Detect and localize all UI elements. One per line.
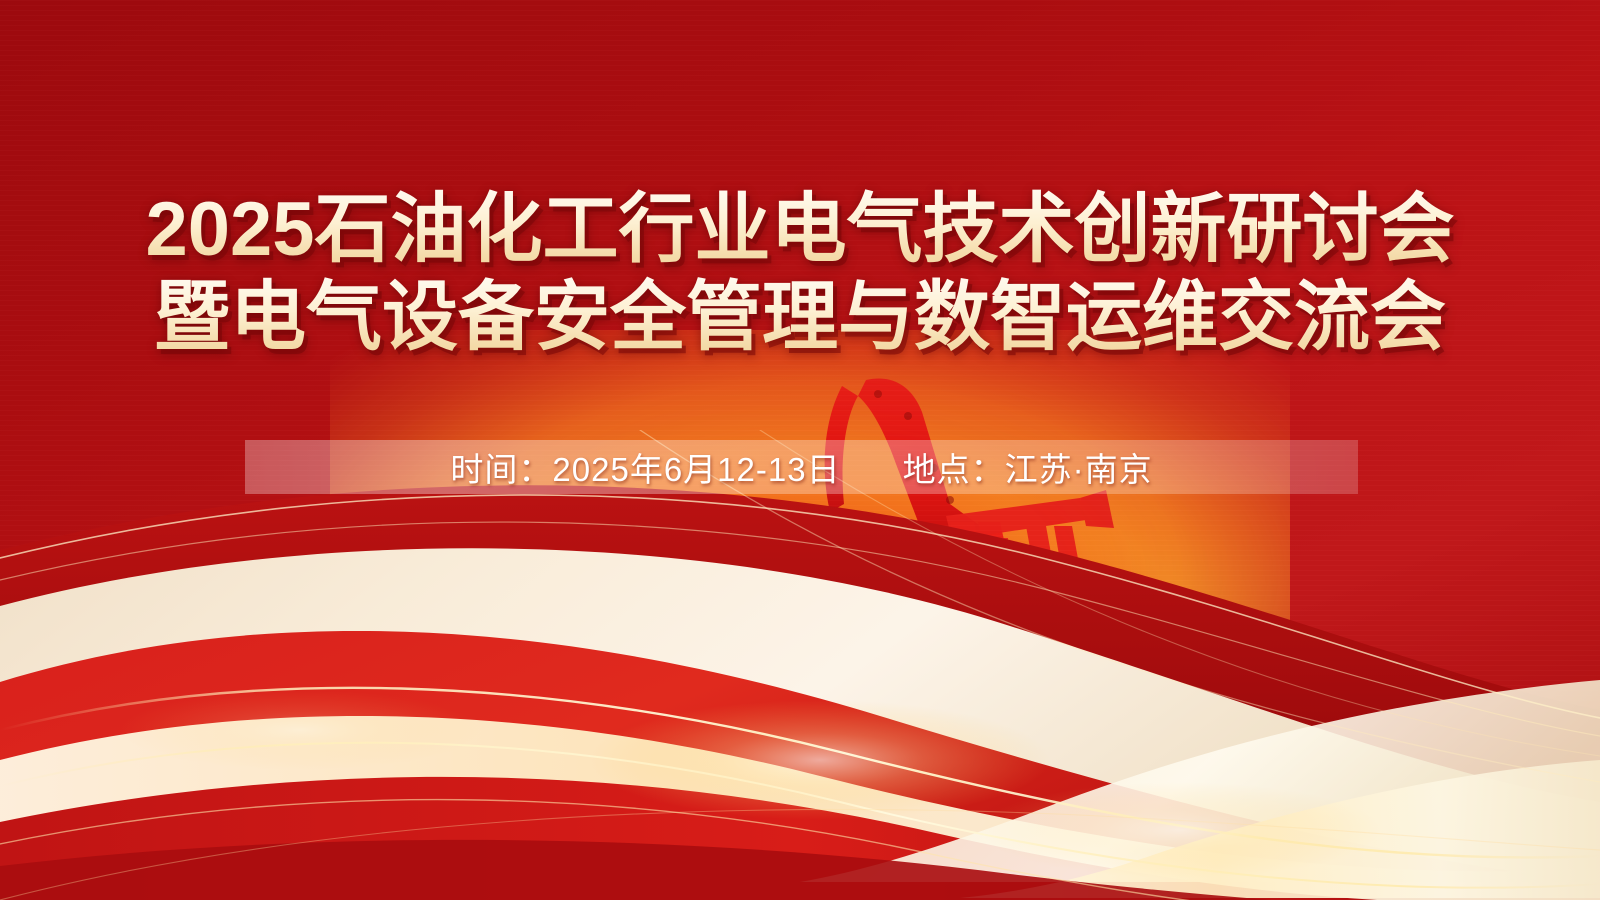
- event-location: 地点：江苏·南京: [903, 443, 1153, 491]
- conference-poster: 2025石油化工行业电气技术创新研讨会 暨电气设备安全管理与数智运维交流会 时间…: [0, 0, 1600, 900]
- page-title-line-1: 2025石油化工行业电气技术创新研讨会: [0, 188, 1600, 272]
- flowing-ribbon-icon: [0, 430, 1600, 900]
- event-info-text: 时间：2025年6月12-13日 地点：江苏·南京: [450, 443, 1152, 491]
- poster-title-block: 2025石油化工行业电气技术创新研讨会 暨电气设备安全管理与数智运维交流会: [0, 188, 1600, 360]
- event-date: 时间：2025年6月12-13日: [450, 443, 840, 491]
- event-info-band: 时间：2025年6月12-13日 地点：江苏·南京: [245, 440, 1358, 494]
- page-title-line-2: 暨电气设备安全管理与数智运维交流会: [0, 276, 1600, 360]
